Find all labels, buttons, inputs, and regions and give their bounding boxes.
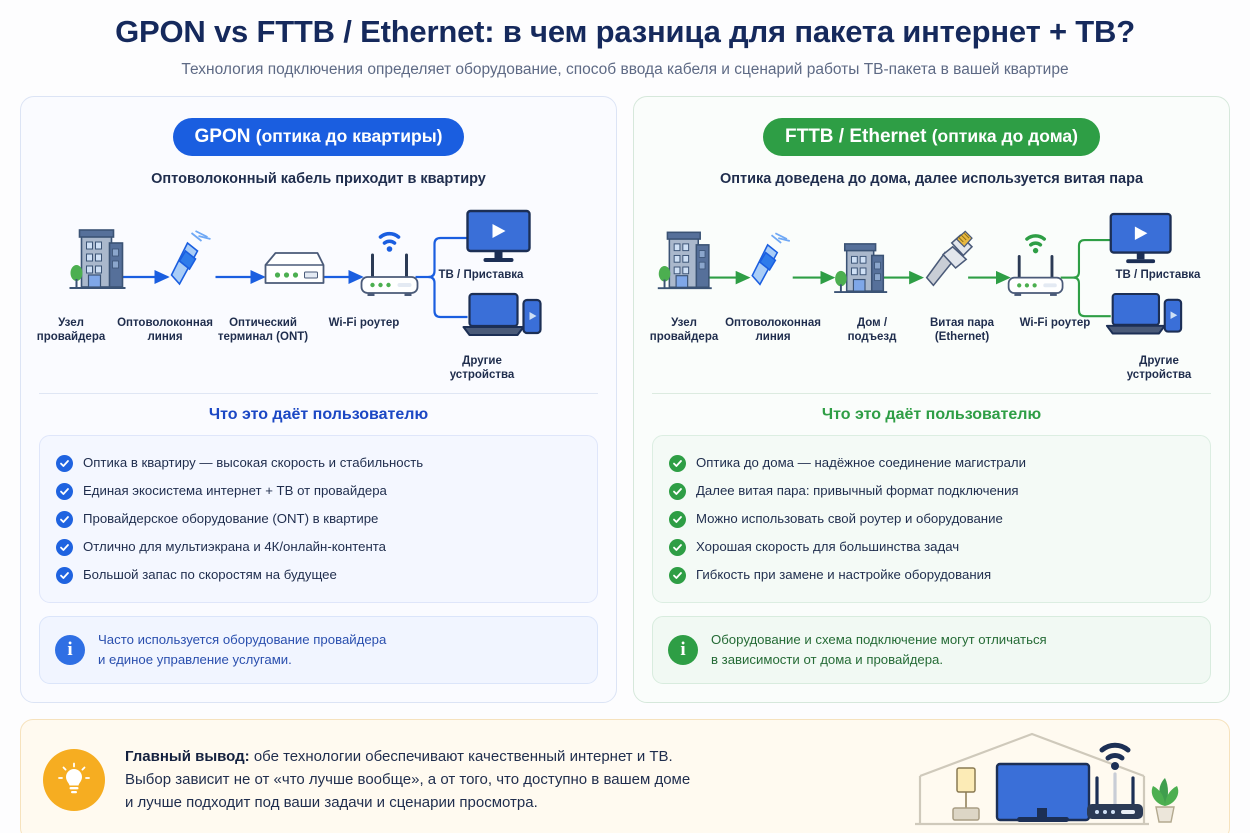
info-icon: i: [668, 635, 698, 665]
node-caption-tv: ТВ / Приставка: [1098, 261, 1218, 282]
benefits-list-fttb: Оптика до дома — надёжное соединение маг…: [652, 435, 1211, 603]
panel-fttb-subtitle: Оптика доведена до дома, далее используе…: [652, 171, 1211, 187]
tv-set-top-box-icon: [468, 211, 530, 262]
caption-text: Дом / подъезд: [824, 316, 920, 344]
list-item-label: Провайдерское оборудование (ONT) в кварт…: [83, 511, 378, 527]
conclusion-banner: Главный вывод: обе технологии обеспечива…: [20, 719, 1230, 833]
note-line-2: в зависимости от дома и провайдера.: [711, 652, 943, 667]
connector-branch-devices: [429, 277, 468, 317]
list-item-label: Оптика в квартиру — высокая скорость и с…: [83, 455, 423, 471]
list-item-label: Можно использовать свой роутер и оборудо…: [696, 511, 1003, 527]
section-title-gpon: Что это даёт пользователю: [39, 393, 598, 424]
check-icon: [669, 483, 686, 500]
note-line-1: Часто используется оборудование провайде…: [98, 632, 386, 647]
note-gpon: i Часто используется оборудование провай…: [39, 616, 598, 684]
caption-text: Другие устройства: [437, 354, 527, 382]
node-caption-fiber: Оптоволоконная линия: [725, 309, 821, 344]
other-devices-icon: [1107, 294, 1181, 334]
list-item-label: Далее витая пара: привычный формат подкл…: [696, 483, 1019, 499]
note-line-2: и единое управление услугами.: [98, 652, 292, 667]
list-item-label: Отлично для мультиэкрана и 4К/онлайн-кон…: [83, 539, 386, 555]
caption-text: Другие устройства: [1114, 354, 1204, 382]
note-text: Оборудование и схема подключение могут о…: [711, 630, 1047, 670]
infographic-page: GPON vs FTTB / Ethernet: в чем разница д…: [0, 0, 1250, 833]
node-caption-other-devices: Другие устройства: [1114, 347, 1204, 382]
node-caption-router: Wi-Fi роутер: [1007, 309, 1103, 330]
wifi-router-icon: [1087, 745, 1143, 819]
fiber-line-icon: [172, 231, 211, 284]
other-devices-icon: [464, 294, 541, 335]
lightbulb-icon: [43, 749, 105, 811]
caption-text: Витая пара (Ethernet): [914, 316, 1010, 344]
caption-text: Оптический терминал (ONT): [215, 316, 311, 344]
page-title: GPON vs FTTB / Ethernet: в чем разница д…: [20, 14, 1230, 50]
conclusion-lead: Главный вывод:: [125, 748, 250, 765]
panel-gpon: GPON (оптика до квартиры) Оптоволоконный…: [20, 96, 617, 703]
page-subtitle: Технология подключения определяет оборуд…: [20, 61, 1230, 79]
tv-icon: [997, 764, 1089, 822]
check-icon: [56, 483, 73, 500]
benefits-list-gpon: Оптика в квартиру — высокая скорость и с…: [39, 435, 598, 603]
node-caption-fiber: Оптоволоконная линия: [117, 309, 213, 344]
panel-gpon-badge-paren: (оптика до квартиры): [256, 126, 443, 146]
list-item: Хорошая скорость для большинства задач: [667, 533, 1196, 561]
list-item: Далее витая пара: привычный формат подкл…: [667, 477, 1196, 505]
lamp-icon: [953, 768, 979, 820]
note-line-1: Оборудование и схема подключение могут о…: [711, 632, 1047, 647]
check-icon: [669, 455, 686, 472]
note-text: Часто используется оборудование провайде…: [98, 630, 386, 670]
provider-node-icon: [70, 230, 126, 288]
comparison-panels: GPON (оптика до квартиры) Оптоволоконный…: [0, 79, 1250, 703]
diagram-fttb: Узел провайдера Оптоволоконная линия Дом…: [652, 199, 1211, 389]
check-icon: [669, 539, 686, 556]
node-caption-other-devices: Другие устройства: [437, 347, 527, 382]
building-entry-icon: [834, 244, 887, 292]
list-item: Большой запас по скоростям на будущее: [54, 561, 583, 589]
check-icon: [56, 455, 73, 472]
node-caption-ont: Оптический терминал (ONT): [215, 309, 311, 344]
list-item-label: Единая экосистема интернет + ТВ от прова…: [83, 483, 387, 499]
twisted-pair-icon: [927, 231, 972, 285]
caption-text: Wi-Fi роутер: [316, 316, 412, 330]
list-item-label: Большой запас по скоростям на будущее: [83, 567, 337, 583]
wifi-router-icon: [362, 234, 418, 296]
conclusion-text: Главный вывод: обе технологии обеспечива…: [125, 745, 690, 815]
provider-node-icon: [658, 232, 712, 288]
list-item: Оптика в квартиру — высокая скорость и с…: [54, 449, 583, 477]
home-illustration: [857, 728, 1207, 833]
conclusion-line-3: и лучше подходит под ваши задачи и сцена…: [125, 794, 538, 811]
list-item: Оптика до дома — надёжное соединение маг…: [667, 449, 1196, 477]
fiber-line-icon: [752, 233, 790, 284]
node-caption-twisted-pair: Витая пара (Ethernet): [914, 309, 1010, 344]
list-item: Провайдерское оборудование (ONT) в кварт…: [54, 505, 583, 533]
conclusion-line-1: обе технологии обеспечивают качественный…: [250, 748, 673, 765]
list-item: Можно использовать свой роутер и оборудо…: [667, 505, 1196, 533]
list-item: Единая экосистема интернет + ТВ от прова…: [54, 477, 583, 505]
check-icon: [669, 511, 686, 528]
conclusion-line-2: Выбор зависит не от «что лучше вообще», …: [125, 771, 690, 788]
page-header: GPON vs FTTB / Ethernet: в чем разница д…: [0, 0, 1250, 79]
caption-text: Wi-Fi роутер: [1007, 316, 1103, 330]
caption-text: Узел провайдера: [636, 316, 732, 344]
diagram-gpon: Узел провайдера Оптоволоконная линия Опт…: [39, 199, 598, 389]
panel-gpon-badge-main: GPON: [195, 126, 251, 147]
check-icon: [56, 511, 73, 528]
list-item-label: Оптика до дома — надёжное соединение маг…: [696, 455, 1026, 471]
caption-text: Оптоволоконная линия: [725, 316, 821, 344]
panel-fttb: FTTB / Ethernet (оптика до дома) Оптика …: [633, 96, 1230, 703]
panel-fttb-badge-paren: (оптика до дома): [932, 126, 1078, 146]
list-item: Гибкость при замене и настройке оборудов…: [667, 561, 1196, 589]
section-title-fttb: Что это даёт пользователю: [652, 393, 1211, 424]
list-item-label: Гибкость при замене и настройке оборудов…: [696, 567, 991, 583]
check-icon: [56, 567, 73, 584]
info-icon: i: [55, 635, 85, 665]
check-icon: [56, 539, 73, 556]
caption-text: Узел провайдера: [23, 316, 119, 344]
caption-text: ТВ / Приставка: [1098, 268, 1218, 282]
list-item-label: Хорошая скорость для большинства задач: [696, 539, 959, 555]
plant-icon: [1152, 778, 1179, 822]
node-caption-provider: Узел провайдера: [23, 309, 119, 344]
panel-gpon-badge: GPON (оптика до квартиры): [173, 118, 465, 156]
ont-terminal-icon: [266, 253, 324, 283]
node-caption-building: Дом / подъезд: [824, 309, 920, 344]
wifi-router-icon: [1009, 236, 1063, 296]
check-icon: [669, 567, 686, 584]
caption-text: Оптоволоконная линия: [117, 316, 213, 344]
panel-fttb-badge-main: FTTB / Ethernet: [785, 126, 926, 147]
panel-gpon-subtitle: Оптоволоконный кабель приходит в квартир…: [39, 171, 598, 187]
note-fttb: i Оборудование и схема подключение могут…: [652, 616, 1211, 684]
tv-set-top-box-icon: [1111, 214, 1171, 263]
node-caption-router: Wi-Fi роутер: [316, 309, 412, 330]
node-caption-tv: ТВ / Приставка: [421, 261, 541, 282]
node-caption-provider: Узел провайдера: [636, 309, 732, 344]
list-item: Отлично для мультиэкрана и 4К/онлайн-кон…: [54, 533, 583, 561]
caption-text: ТВ / Приставка: [421, 268, 541, 282]
panel-fttb-badge: FTTB / Ethernet (оптика до дома): [763, 118, 1100, 156]
